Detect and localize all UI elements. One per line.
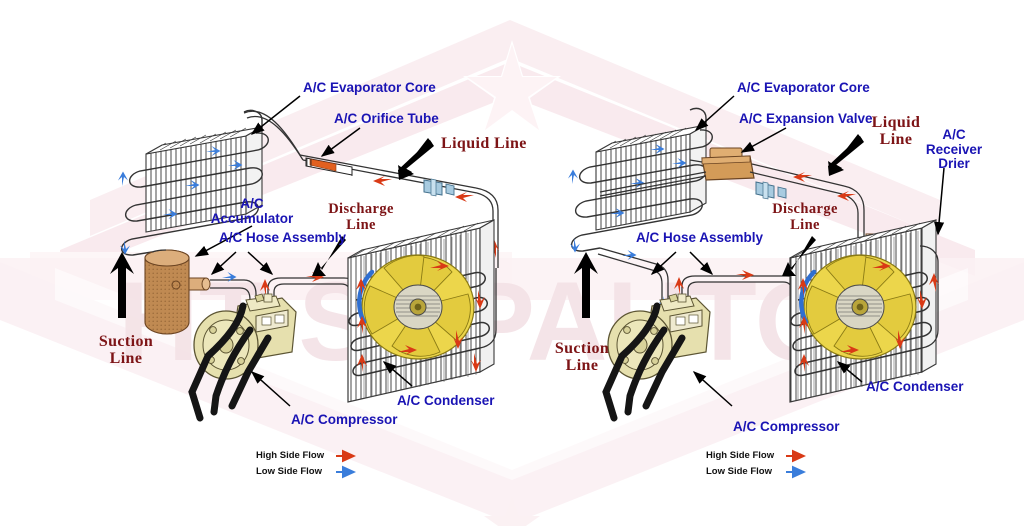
label-liquid-line-left: Liquid Line <box>441 135 527 152</box>
accumulator-graphic <box>145 250 210 334</box>
legend-low-side-flow-right: Low Side Flow <box>706 466 772 477</box>
label-compressor-right: A/C Compressor <box>733 420 840 435</box>
label-accumulator: A/C Accumulator <box>206 197 298 226</box>
condenser-fan-right <box>804 255 916 359</box>
label-receiver-drier-line3: Drier <box>922 157 986 172</box>
condenser-fan-left <box>362 255 474 359</box>
label-receiver-drier-line1: A/C <box>922 128 986 143</box>
compressor-graphic-left <box>192 294 296 418</box>
label-suction-line-left-line2: Line <box>80 350 172 367</box>
condenser-graphic-left <box>348 220 496 402</box>
label-suction-line-left-line1: Suction <box>80 333 172 350</box>
label-discharge-line-left-line2: Line <box>318 218 404 234</box>
label-condenser-right: A/C Condenser <box>866 380 964 395</box>
label-evaporator-core-left: A/C Evaporator Core <box>303 81 436 96</box>
orifice-tube-graphic <box>306 158 352 176</box>
expansion-valve-graphic <box>702 148 754 180</box>
label-suction-line-right: Suction Line <box>536 340 628 375</box>
label-orifice-tube: A/C Orifice Tube <box>334 112 439 127</box>
liquid-line-coupling-left <box>424 179 454 196</box>
label-accumulator-line2: Accumulator <box>206 212 298 227</box>
label-suction-line-left: Suction Line <box>80 333 172 368</box>
label-hose-assembly-right: A/C Hose Assembly <box>636 231 763 246</box>
label-discharge-line-left: Discharge Line <box>318 202 404 233</box>
diagram-artwork <box>0 0 1024 526</box>
svg-text:HT SOPAUTO: HT SOPAUTO <box>118 259 842 384</box>
label-discharge-line-right-line1: Discharge <box>762 202 848 218</box>
label-accumulator-line1: A/C <box>206 197 298 212</box>
receiver-drier-graphic <box>850 234 894 330</box>
label-liquid-line-right-line1: Liquid <box>866 114 926 131</box>
label-suction-line-right-line1: Suction <box>536 340 628 357</box>
label-discharge-line-right: Discharge Line <box>762 202 848 233</box>
liquid-line-coupling-right <box>756 182 786 199</box>
label-suction-line-right-line2: Line <box>536 357 628 374</box>
legend-low-side-flow-left: Low Side Flow <box>256 466 322 477</box>
legend-high-side-flow-right: High Side Flow <box>706 450 774 461</box>
label-expansion-valve: A/C Expansion Valve <box>739 112 873 127</box>
label-liquid-line-right: Liquid Line <box>866 114 926 149</box>
label-compressor-left: A/C Compressor <box>291 413 398 428</box>
condenser-graphic-right <box>790 220 939 402</box>
label-receiver-drier: A/C Receiver Drier <box>922 128 986 172</box>
ac-system-diagram: HT SOPAUTO <box>0 0 1024 526</box>
label-liquid-line-right-line2: Line <box>866 131 926 148</box>
label-discharge-line-left-line1: Discharge <box>318 202 404 218</box>
label-receiver-drier-line2: Receiver <box>922 143 986 158</box>
legend-high-side-flow-left: High Side Flow <box>256 450 324 461</box>
background-watermark: HT SOPAUTO <box>0 0 1024 526</box>
label-evaporator-core-right: A/C Evaporator Core <box>737 81 870 96</box>
label-condenser-left: A/C Condenser <box>397 394 495 409</box>
label-discharge-line-right-line2: Line <box>762 218 848 234</box>
